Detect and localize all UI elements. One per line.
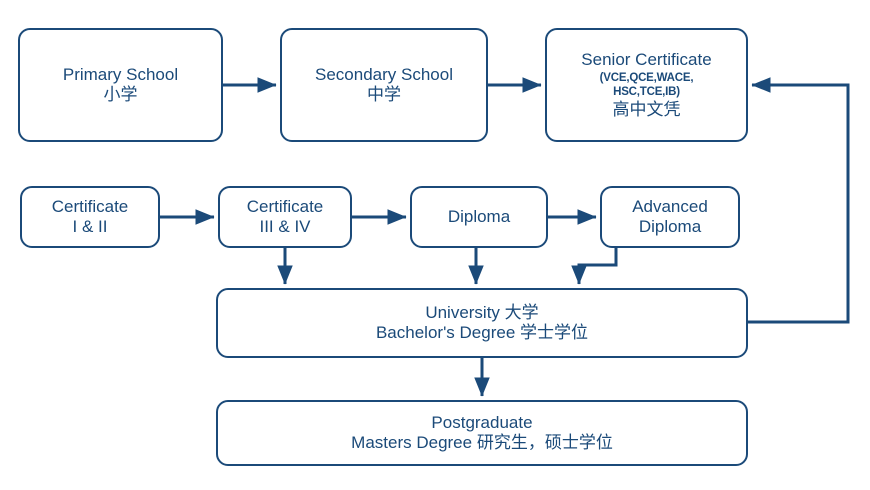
node-diploma[interactable]: Diploma <box>410 186 548 248</box>
node-senior-certificate-line-4: 高中文凭 <box>613 99 681 120</box>
node-certificate-3-4[interactable]: Certificate III & IV <box>218 186 352 248</box>
node-secondary-school[interactable]: Secondary School 中学 <box>280 28 488 142</box>
node-senior-certificate-line-3: HSC,TCE,IB) <box>613 85 680 99</box>
node-advanced-diploma-line-2: Diploma <box>639 217 701 237</box>
flowchart-canvas: Primary School 小学 Secondary School 中学 Se… <box>0 0 870 490</box>
node-senior-certificate-line-2: (VCE,QCE,WACE, <box>600 71 694 85</box>
node-senior-certificate-line-1: Senior Certificate <box>581 49 711 70</box>
node-certificate-3-4-line-2: III & IV <box>259 217 310 237</box>
node-university-line-1: University 大学 <box>425 303 538 323</box>
node-diploma-line-1: Diploma <box>448 207 510 227</box>
node-certificate-1-2-line-1: Certificate <box>52 197 129 217</box>
node-postgraduate-line-2: Masters Degree 研究生，硕士学位 <box>351 433 613 453</box>
node-senior-certificate[interactable]: Senior Certificate (VCE,QCE,WACE, HSC,TC… <box>545 28 748 142</box>
node-postgraduate-line-1: Postgraduate <box>431 413 532 433</box>
node-university[interactable]: University 大学 Bachelor's Degree 学士学位 <box>216 288 748 358</box>
node-secondary-school-line-2: 中学 <box>367 85 401 105</box>
node-primary-school-line-2: 小学 <box>104 85 138 105</box>
node-advanced-diploma-line-1: Advanced <box>632 197 708 217</box>
node-university-line-2: Bachelor's Degree 学士学位 <box>376 323 588 343</box>
node-certificate-1-2-line-2: I & II <box>73 217 108 237</box>
edge-advanced-diploma-to-university <box>579 248 616 284</box>
node-primary-school[interactable]: Primary School 小学 <box>18 28 223 142</box>
node-advanced-diploma[interactable]: Advanced Diploma <box>600 186 740 248</box>
node-certificate-1-2[interactable]: Certificate I & II <box>20 186 160 248</box>
node-certificate-3-4-line-1: Certificate <box>247 197 324 217</box>
node-secondary-school-line-1: Secondary School <box>315 65 453 85</box>
node-postgraduate[interactable]: Postgraduate Masters Degree 研究生，硕士学位 <box>216 400 748 466</box>
node-primary-school-line-1: Primary School <box>63 65 178 85</box>
edge-university-to-senior-certificate <box>748 85 848 322</box>
